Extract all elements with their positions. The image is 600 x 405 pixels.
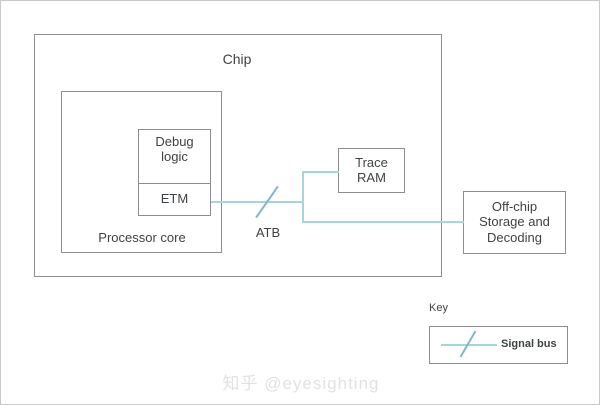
watermark: 知乎 @eyesighting xyxy=(1,369,600,394)
signal-bus-trace-ram-segment xyxy=(302,171,339,173)
signal-bus-vertical-segment xyxy=(302,171,304,223)
processor-core-label: Processor core xyxy=(67,230,217,245)
signal-bus-icon xyxy=(441,344,497,346)
signal-bus-etm-segment xyxy=(211,201,303,203)
signal-bus-off-chip-segment xyxy=(302,221,464,223)
diagram-canvas: Chip Processor core Debug logic ETM Trac… xyxy=(0,0,600,405)
chip-label: Chip xyxy=(187,51,287,68)
trace-ram-label: Trace RAM xyxy=(338,155,405,186)
off-chip-storage-label: Off-chip Storage and Decoding xyxy=(463,199,566,245)
key-title: Key xyxy=(429,302,489,315)
etm-label: ETM xyxy=(138,191,211,206)
atb-bus-label: ATB xyxy=(236,225,300,240)
debug-logic-label: Debug logic xyxy=(138,134,211,165)
key-entry-label: Signal bus xyxy=(501,338,571,351)
